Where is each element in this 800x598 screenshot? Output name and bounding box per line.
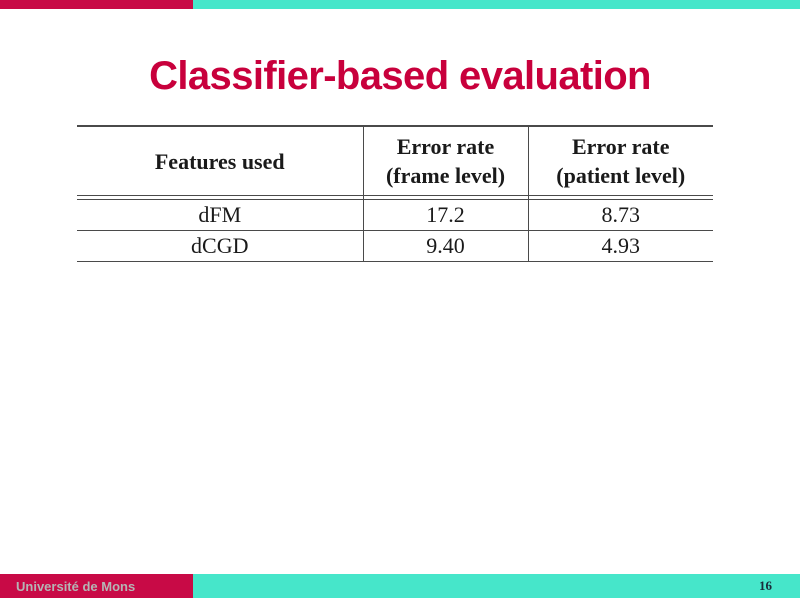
column-header-error-rate-patient: Error rate (patient level) bbox=[528, 126, 713, 196]
top-accent-bar bbox=[0, 0, 800, 9]
footer-bar-turquoise-segment: 16 bbox=[193, 574, 800, 598]
footer-bar: Université de Mons 16 bbox=[0, 574, 800, 598]
footer-organization-label: Université de Mons bbox=[0, 579, 135, 594]
top-accent-bar-turquoise-segment bbox=[193, 0, 800, 9]
column-header-error-rate-frame-line2: (frame level) bbox=[364, 161, 528, 190]
table-row: dCGD 9.40 4.93 bbox=[77, 231, 713, 262]
table-body: dFM 17.2 8.73 dCGD 9.40 4.93 bbox=[77, 196, 713, 262]
slide-canvas: Classifier-based evaluation Features use… bbox=[0, 0, 800, 598]
footer-bar-crimson-segment: Université de Mons bbox=[0, 574, 193, 598]
results-table-container: Features used Error rate (frame level) E… bbox=[77, 125, 713, 262]
column-header-features-used-line1: Features used bbox=[77, 147, 363, 176]
page-title: Classifier-based evaluation bbox=[0, 52, 800, 100]
cell-features-used: dCGD bbox=[77, 231, 363, 262]
cell-error-rate-frame: 17.2 bbox=[363, 200, 528, 231]
column-header-error-rate-patient-line1: Error rate bbox=[529, 132, 714, 161]
cell-error-rate-frame: 9.40 bbox=[363, 231, 528, 262]
results-table: Features used Error rate (frame level) E… bbox=[77, 125, 713, 262]
cell-error-rate-patient: 8.73 bbox=[528, 200, 713, 231]
column-header-error-rate-patient-line2: (patient level) bbox=[529, 161, 714, 190]
table-header: Features used Error rate (frame level) E… bbox=[77, 126, 713, 196]
table-row: dFM 17.2 8.73 bbox=[77, 200, 713, 231]
table-header-row: Features used Error rate (frame level) E… bbox=[77, 126, 713, 196]
column-header-features-used: Features used bbox=[77, 126, 363, 196]
footer-page-number: 16 bbox=[759, 578, 800, 594]
column-header-error-rate-frame: Error rate (frame level) bbox=[363, 126, 528, 196]
top-accent-bar-crimson-segment bbox=[0, 0, 193, 9]
cell-features-used: dFM bbox=[77, 200, 363, 231]
cell-error-rate-patient: 4.93 bbox=[528, 231, 713, 262]
column-header-error-rate-frame-line1: Error rate bbox=[364, 132, 528, 161]
